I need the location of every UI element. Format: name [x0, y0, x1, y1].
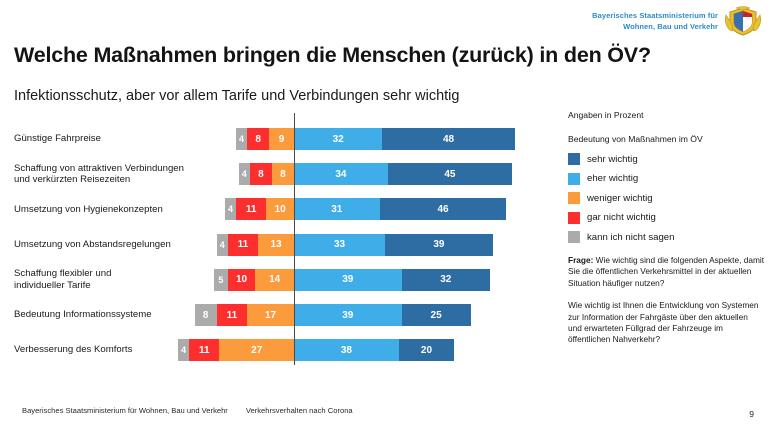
- legend-item: gar nicht wichtig: [568, 212, 764, 224]
- chart-row-label-line: Bedeutung Informationssysteme: [14, 309, 219, 321]
- chart-side-panel: Angaben in Prozent Bedeutung von Maßnahm…: [568, 110, 764, 357]
- footer: Bayerisches Staatsministerium für Wohnen…: [22, 406, 353, 415]
- chart-row-label: Schaffung von attraktiven Verbindungenun…: [14, 163, 219, 186]
- chart-bar-segment: 32: [294, 128, 382, 150]
- chart-legend: sehr wichtigeher wichtigweniger wichtigg…: [568, 153, 764, 243]
- chart-bar-segment: 39: [294, 269, 402, 291]
- chart-rows: Günstige Fahrpreise4893248Schaffung von …: [0, 120, 560, 382]
- chart-bar-segment: 10: [228, 269, 256, 291]
- chart-row: Verbesserung des Komforts411273820: [0, 339, 560, 361]
- chart-bar-segment: 32: [402, 269, 490, 291]
- legend-item: sehr wichtig: [568, 153, 764, 165]
- chart-bar-segment: 39: [385, 234, 493, 256]
- chart-bar-segment: 38: [294, 339, 399, 361]
- legend-swatch-icon: [568, 212, 580, 224]
- chart-row-label: Schaffung flexibler undindividueller Tar…: [14, 268, 219, 291]
- legend-item-label: eher wichtig: [587, 173, 638, 184]
- ministry-logo: Bayerisches Staatsministerium für Wohnen…: [592, 6, 762, 36]
- page-title: Welche Maßnahmen bringen die Menschen (z…: [14, 43, 754, 68]
- chart-bar-segment: 11: [189, 339, 219, 361]
- chart-bar-segment: 48: [382, 128, 514, 150]
- chart-bar-segment: 25: [402, 304, 471, 326]
- chart-row: Umsetzung von Hygienekonzepten411103146: [0, 198, 560, 220]
- chart-row-label: Umsetzung von Hygienekonzepten: [14, 204, 219, 216]
- chart-bar: 811173925: [195, 304, 471, 326]
- chart-bar: 411133339: [217, 234, 493, 256]
- chart-bar: 411103146: [225, 198, 506, 220]
- page-number: 9: [749, 409, 754, 419]
- question-block: Frage: Wie wichtig sind die folgenden As…: [568, 255, 764, 346]
- legend-swatch-icon: [568, 173, 580, 185]
- chart-bar: 4893248: [236, 128, 515, 150]
- chart-bar: 510143932: [214, 269, 490, 291]
- chart-bar-segment: 8: [195, 304, 217, 326]
- page-subtitle: Infektionsschutz, aber vor allem Tarife …: [14, 88, 574, 104]
- chart-bar-segment: 20: [399, 339, 454, 361]
- chart-row: Schaffung von attraktiven Verbindungenun…: [0, 163, 560, 185]
- legend-item: kann ich nicht sagen: [568, 231, 764, 243]
- chart-bar-segment: 9: [269, 128, 294, 150]
- chart-bar-segment: 13: [258, 234, 294, 256]
- chart-row: Bedeutung Informationssysteme811173925: [0, 304, 560, 326]
- legend-item-label: weniger wichtig: [587, 193, 653, 204]
- chart-bar-segment: 34: [294, 163, 388, 185]
- chart-bar-segment: 4: [236, 128, 247, 150]
- legend-swatch-icon: [568, 192, 580, 204]
- chart-bar-segment: 14: [255, 269, 294, 291]
- ministry-name-line2: Wohnen, Bau und Verkehr: [592, 21, 718, 32]
- legend-swatch-icon: [568, 231, 580, 243]
- footer-topic: Verkehrsverhalten nach Corona: [246, 406, 353, 415]
- chart-bar-segment: 11: [228, 234, 258, 256]
- ministry-name-line1: Bayerisches Staatsministerium für: [592, 10, 718, 21]
- chart-bar-segment: 39: [294, 304, 402, 326]
- legend-item-label: kann ich nicht sagen: [587, 232, 674, 243]
- chart-row-label-line: Umsetzung von Abstandsregelungen: [14, 239, 219, 251]
- bavaria-coat-of-arms-icon: [724, 6, 762, 36]
- chart-bar: 411273820: [178, 339, 454, 361]
- chart-bar-segment: 8: [250, 163, 272, 185]
- chart-row-label-line: Günstige Fahrpreise: [14, 133, 219, 145]
- chart-bar-segment: 46: [380, 198, 507, 220]
- chart-reference-line: [294, 113, 295, 365]
- chart-row-label-line: Schaffung flexibler und: [14, 268, 219, 280]
- legend-swatch-icon: [568, 153, 580, 165]
- chart-bar-segment: 45: [388, 163, 512, 185]
- chart-row: Schaffung flexibler undindividueller Tar…: [0, 269, 560, 291]
- chart-bar: 4883445: [239, 163, 512, 185]
- legend-item-label: sehr wichtig: [587, 154, 638, 165]
- chart-bar-segment: 5: [214, 269, 228, 291]
- chart-row-label-line: individueller Tarife: [14, 280, 219, 292]
- footer-ministry: Bayerisches Staatsministerium für Wohnen…: [22, 406, 228, 415]
- question-2: Wie wichtig ist Ihnen die Entwicklung vo…: [568, 300, 764, 346]
- chart-row-label: Umsetzung von Abstandsregelungen: [14, 239, 219, 251]
- chart-bar-segment: 33: [294, 234, 385, 256]
- chart-bar-segment: 8: [272, 163, 294, 185]
- slide: Bayerisches Staatsministerium für Wohnen…: [0, 0, 770, 433]
- chart-bar-segment: 17: [247, 304, 294, 326]
- chart-bar-segment: 11: [236, 198, 266, 220]
- units-note: Angaben in Prozent: [568, 110, 764, 120]
- chart-bar-segment: 4: [239, 163, 250, 185]
- stacked-bar-chart: Günstige Fahrpreise4893248Schaffung von …: [0, 120, 560, 382]
- chart-row-label-line: Umsetzung von Hygienekonzepten: [14, 204, 219, 216]
- ministry-name: Bayerisches Staatsministerium für Wohnen…: [592, 10, 718, 32]
- question-1: Frage: Wie wichtig sind die folgenden As…: [568, 255, 764, 289]
- legend-item: weniger wichtig: [568, 192, 764, 204]
- chart-row: Günstige Fahrpreise4893248: [0, 128, 560, 150]
- chart-bar-segment: 4: [217, 234, 228, 256]
- legend-item-label: gar nicht wichtig: [587, 212, 656, 223]
- legend-item: eher wichtig: [568, 173, 764, 185]
- chart-bar-segment: 11: [217, 304, 247, 326]
- chart-bar-segment: 27: [219, 339, 294, 361]
- chart-bar-segment: 8: [247, 128, 269, 150]
- chart-row-label: Bedeutung Informationssysteme: [14, 309, 219, 321]
- chart-bar-segment: 4: [225, 198, 236, 220]
- chart-bar-segment: 31: [294, 198, 380, 220]
- chart-row-label: Günstige Fahrpreise: [14, 133, 219, 145]
- chart-bar-segment: 10: [266, 198, 294, 220]
- legend-title: Bedeutung von Maßnahmen im ÖV: [568, 134, 764, 145]
- question-label: Frage:: [568, 255, 593, 265]
- chart-bar-segment: 4: [178, 339, 189, 361]
- chart-row-label-line: Schaffung von attraktiven Verbindungen: [14, 163, 219, 175]
- question-1-text: Wie wichtig sind die folgenden Aspekte, …: [568, 255, 764, 288]
- chart-row-label-line: und verkürzten Reisezeiten: [14, 174, 219, 186]
- chart-row: Umsetzung von Abstandsregelungen41113333…: [0, 234, 560, 256]
